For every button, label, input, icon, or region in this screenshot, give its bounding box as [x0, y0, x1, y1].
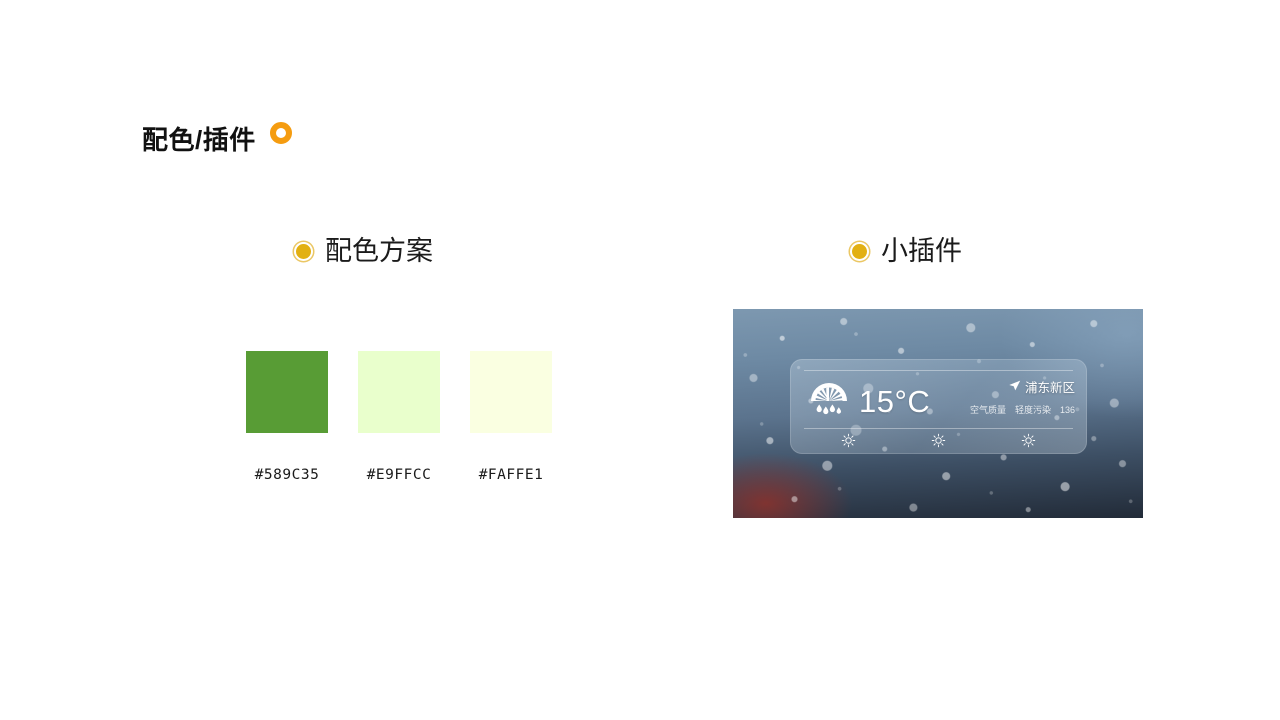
- widget-preview-image: 15°C 浦东新区 空气质量 轻度污染 136: [733, 309, 1143, 518]
- color-swatch[interactable]: [470, 351, 552, 433]
- swatch-item[interactable]: #FAFFE1: [470, 351, 552, 483]
- temperature-value: 15°C: [859, 386, 930, 417]
- forecast-item[interactable]: [804, 433, 894, 453]
- color-swatch[interactable]: [246, 351, 328, 433]
- color-swatch[interactable]: [358, 351, 440, 433]
- air-quality-level: 轻度污染: [1015, 406, 1051, 415]
- swatch-hex-label: #589C35: [255, 467, 320, 483]
- section-heading-widget: 小插件: [852, 238, 962, 265]
- swatch-hex-label: #FAFFE1: [479, 467, 544, 483]
- swatch-item[interactable]: #589C35: [246, 351, 328, 483]
- navigation-arrow-icon: [1008, 379, 1021, 397]
- sun-icon: [841, 433, 856, 453]
- sun-icon: [1021, 433, 1036, 453]
- location-row[interactable]: 浦东新区: [970, 379, 1075, 397]
- forecast-item[interactable]: [983, 433, 1073, 453]
- section-heading-palette: 配色方案: [296, 238, 433, 265]
- weather-primary-group: 15°C: [806, 376, 930, 427]
- air-quality-label: 空气质量: [970, 406, 1006, 415]
- color-palette: #589C35 #E9FFCC #FAFFE1: [246, 351, 552, 483]
- dot-ring-icon: [296, 244, 311, 259]
- divider-top: [804, 370, 1073, 371]
- dot-ring-icon: [852, 244, 867, 259]
- section-heading-label: 配色方案: [325, 238, 433, 265]
- sun-icon: [931, 433, 946, 453]
- section-heading-label: 小插件: [881, 238, 962, 265]
- weather-widget-card[interactable]: 15°C 浦东新区 空气质量 轻度污染 136: [790, 359, 1087, 454]
- air-quality-row: 空气质量 轻度污染 136: [970, 406, 1075, 415]
- page-title-row: 配色/插件: [142, 122, 292, 158]
- forecast-row: [804, 431, 1073, 454]
- weather-location-group[interactable]: 浦东新区 空气质量 轻度污染 136: [970, 379, 1075, 415]
- location-name: 浦东新区: [1025, 382, 1075, 395]
- ring-icon: [270, 122, 292, 144]
- air-quality-index: 136: [1060, 406, 1075, 415]
- sun-with-rain-icon: [806, 376, 852, 427]
- divider-bottom: [804, 428, 1073, 429]
- forecast-item[interactable]: [894, 433, 984, 453]
- page-title: 配色/插件: [142, 127, 256, 153]
- swatch-item[interactable]: #E9FFCC: [358, 351, 440, 483]
- swatch-hex-label: #E9FFCC: [367, 467, 432, 483]
